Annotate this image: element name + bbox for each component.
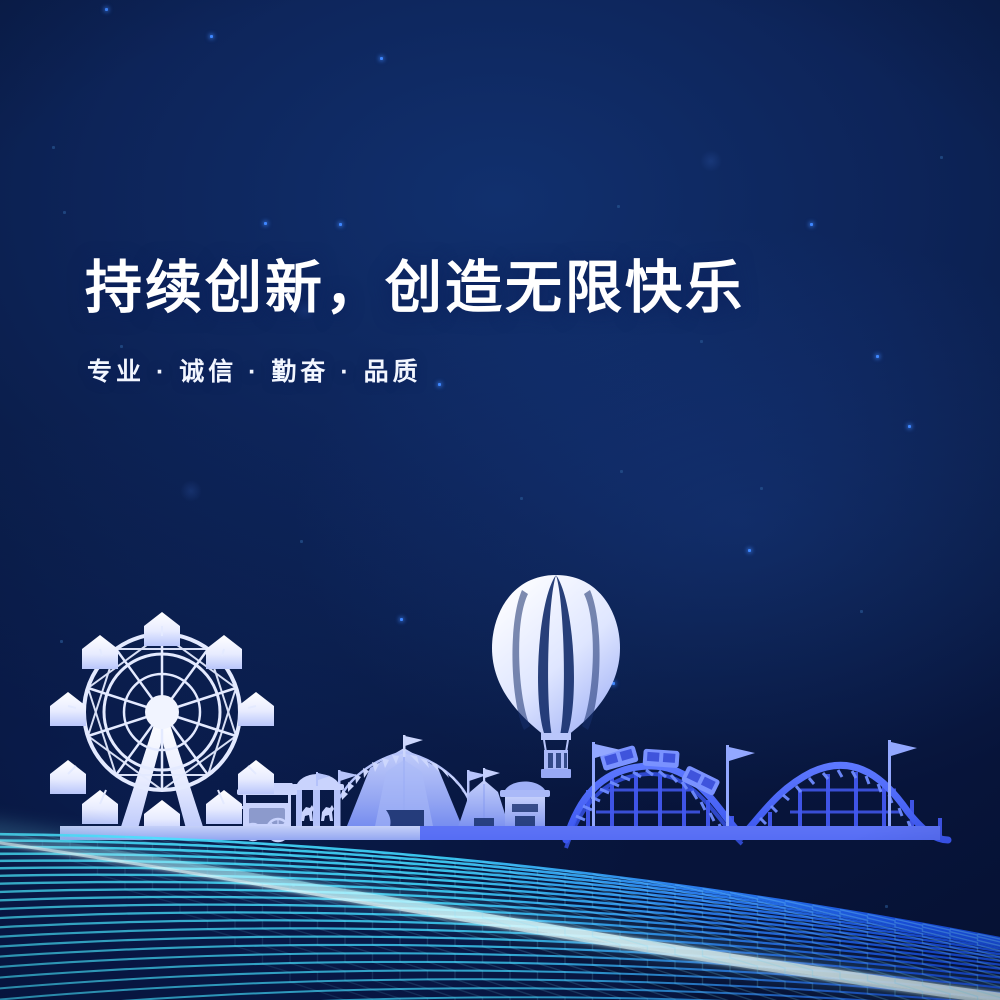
hero-banner: 持续创新，创造无限快乐 专业 · 诚信 · 勤奋 · 品质 — [0, 0, 1000, 1000]
page-title: 持续创新，创造无限快乐 — [85, 258, 885, 320]
hero-subtitle: 专业 · 诚信 · 勤奋 · 品质 — [87, 352, 885, 388]
hero-copy: 持续创新，创造无限快乐 专业 · 诚信 · 勤奋 · 品质 — [85, 258, 885, 388]
glowing-wave-mesh — [0, 0, 1000, 1000]
